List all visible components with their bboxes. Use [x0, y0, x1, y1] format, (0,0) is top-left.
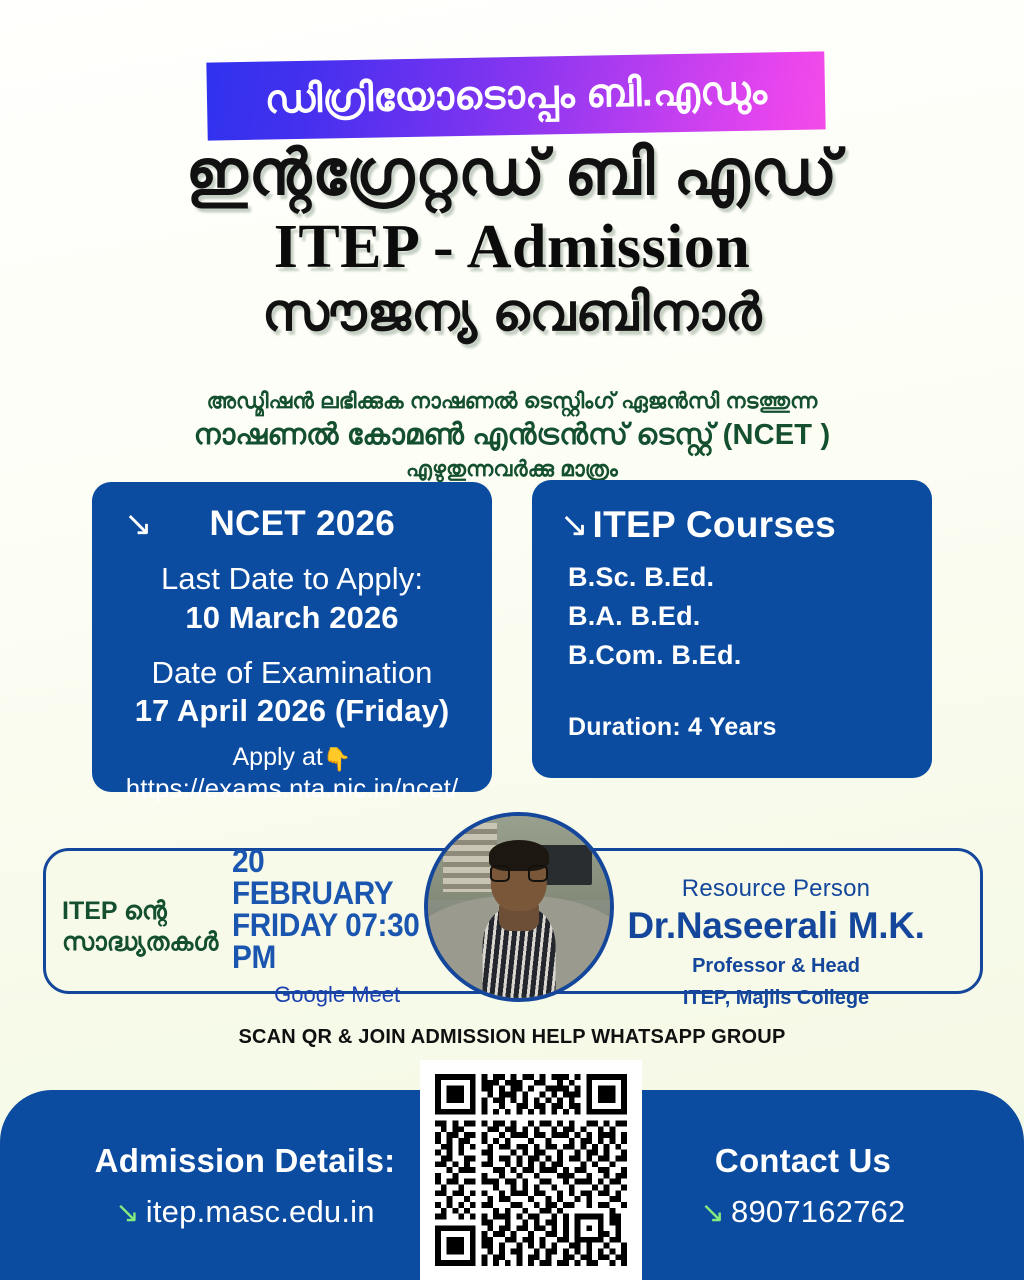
- list-item: B.Sc. B.Ed.: [568, 558, 932, 597]
- ncet-apply-label: Apply at: [233, 743, 323, 771]
- webinar-platform: Google Meet: [232, 982, 442, 1008]
- headline-malayalam-secondary: സൗജന്യ വെബിനാർ: [0, 285, 1024, 342]
- webinar-topic-malayalam: ITEP ന്റെ സാദ്ധ്യതകൾ: [62, 896, 218, 957]
- poster-canvas: ഡിഗ്രിയോടൊപ്പം ബി.എഡും ഇന്റഗ്രേറ്റഡ് ബി …: [0, 0, 1024, 1280]
- ncet-apply-block: Apply at👇 https://exams.nta.nic.in/ncet/: [92, 743, 492, 804]
- list-item: B.Com. B.Ed.: [568, 636, 932, 675]
- courses-card-header: ↘ ITEP Courses: [532, 480, 932, 546]
- resource-person-role-2: ITEP, Majlis College: [586, 985, 966, 1011]
- courses-duration: Duration: 4 Years: [532, 675, 932, 742]
- pointing-down-hand-icon: 👇: [323, 746, 352, 772]
- whatsapp-group-qr-code[interactable]: [420, 1060, 642, 1280]
- webinar-topic-line-1: ITEP ന്റെ: [62, 896, 218, 927]
- footer-admission-title: Admission Details:: [80, 1142, 410, 1180]
- subtitle-line-2: നാഷണൽ കോമൺ എൻട്രൻസ് ടെസ്റ്റ് (NCET ): [0, 417, 1024, 455]
- resource-person-block: Resource Person Dr.Naseerali M.K. Profes…: [586, 875, 966, 1011]
- courses-card-title: ITEP Courses: [593, 504, 837, 546]
- headline-malayalam-primary: ഇന്റഗ്രേറ്റഡ് ബി എഡ്: [0, 140, 1024, 206]
- headline-block: ഇന്റഗ്രേറ്റഡ് ബി എഡ് ITEP - Admission സൗ…: [0, 140, 1024, 343]
- qr-code-image: [434, 1074, 628, 1266]
- list-item: B.A. B.Ed.: [568, 597, 932, 636]
- resource-person-label: Resource Person: [586, 875, 966, 903]
- webinar-datetime-block: 20 FEBRUARY FRIDAY 07:30 PM Google Meet: [232, 845, 442, 1008]
- resource-person-name: Dr.Naseerali M.K.: [586, 905, 966, 947]
- footer-admission-column: Admission Details: ↘itep.masc.edu.in: [80, 1142, 410, 1230]
- webinar-date: 20 FEBRUARY: [232, 845, 427, 909]
- arrow-down-right-icon: ↘: [124, 507, 153, 541]
- itep-courses-card: ↘ ITEP Courses B.Sc. B.Ed. B.A. B.Ed. B.…: [532, 480, 932, 778]
- headline-english: ITEP - Admission: [0, 212, 1024, 283]
- ncet-apply-url[interactable]: https://exams.nta.nic.in/ncet/: [92, 773, 492, 804]
- ncet-card-header: ↘ NCET 2026: [92, 482, 492, 544]
- ncet-card-title: NCET 2026: [153, 504, 493, 544]
- footer-admission-value-row[interactable]: ↘itep.masc.edu.in: [80, 1194, 410, 1230]
- webinar-time: FRIDAY 07:30 PM: [232, 909, 427, 973]
- ncet-last-date-block: Last Date to Apply: 10 March 2026: [92, 560, 492, 638]
- footer-contact-column: Contact Us ↘8907162762: [648, 1142, 958, 1230]
- courses-list: B.Sc. B.Ed. B.A. B.Ed. B.Com. B.Ed.: [532, 546, 932, 675]
- ncet-exam-date-label: Date of Examination: [92, 654, 492, 693]
- footer-admission-url[interactable]: itep.masc.edu.in: [146, 1194, 375, 1229]
- banner-text: ഡിഗ്രിയോടൊപ്പം ബി.എഡും: [265, 71, 768, 121]
- ncet-exam-date-value: 17 April 2026 (Friday): [92, 692, 492, 731]
- scan-qr-caption: SCAN QR & JOIN ADMISSION HELP WHATSAPP G…: [0, 1026, 1024, 1049]
- ncet-info-card: ↘ NCET 2026 Last Date to Apply: 10 March…: [92, 482, 492, 792]
- footer-contact-value-row[interactable]: ↘8907162762: [648, 1194, 958, 1230]
- resource-person-role-1: Professor & Head: [586, 953, 966, 979]
- arrow-down-right-icon: ↘: [701, 1197, 726, 1229]
- arrow-down-right-icon: ↘: [115, 1197, 140, 1229]
- arrow-down-right-icon: ↘: [560, 508, 589, 542]
- photo-glasses-right-icon: [528, 865, 548, 881]
- subtitle-line-1: അഡ്മിഷൻ ലഭിക്കുക നാഷണൽ ടെസ്റ്റിംഗ് ഏജൻസി…: [0, 388, 1024, 415]
- resource-person-photo: [424, 812, 614, 1002]
- footer-contact-title: Contact Us: [648, 1142, 958, 1180]
- webinar-when-block: ITEP ന്റെ സാദ്ധ്യതകൾ 20 FEBRUARY FRIDAY …: [62, 879, 442, 974]
- photo-glasses-left-icon: [490, 865, 510, 881]
- ncet-apply-line: Apply at👇: [92, 743, 492, 773]
- top-gradient-banner: ഡിഗ്രിയോടൊപ്പം ബി.എഡും: [206, 51, 825, 140]
- webinar-topic-line-2: സാദ്ധ്യതകൾ: [62, 927, 218, 958]
- subtitle-block: അഡ്മിഷൻ ലഭിക്കുക നാഷണൽ ടെസ്റ്റിംഗ് ഏജൻസി…: [0, 388, 1024, 484]
- footer-contact-phone[interactable]: 8907162762: [731, 1194, 905, 1229]
- ncet-last-date-label: Last Date to Apply:: [92, 560, 492, 599]
- ncet-last-date-value: 10 March 2026: [92, 599, 492, 638]
- ncet-exam-date-block: Date of Examination 17 April 2026 (Frida…: [92, 654, 492, 732]
